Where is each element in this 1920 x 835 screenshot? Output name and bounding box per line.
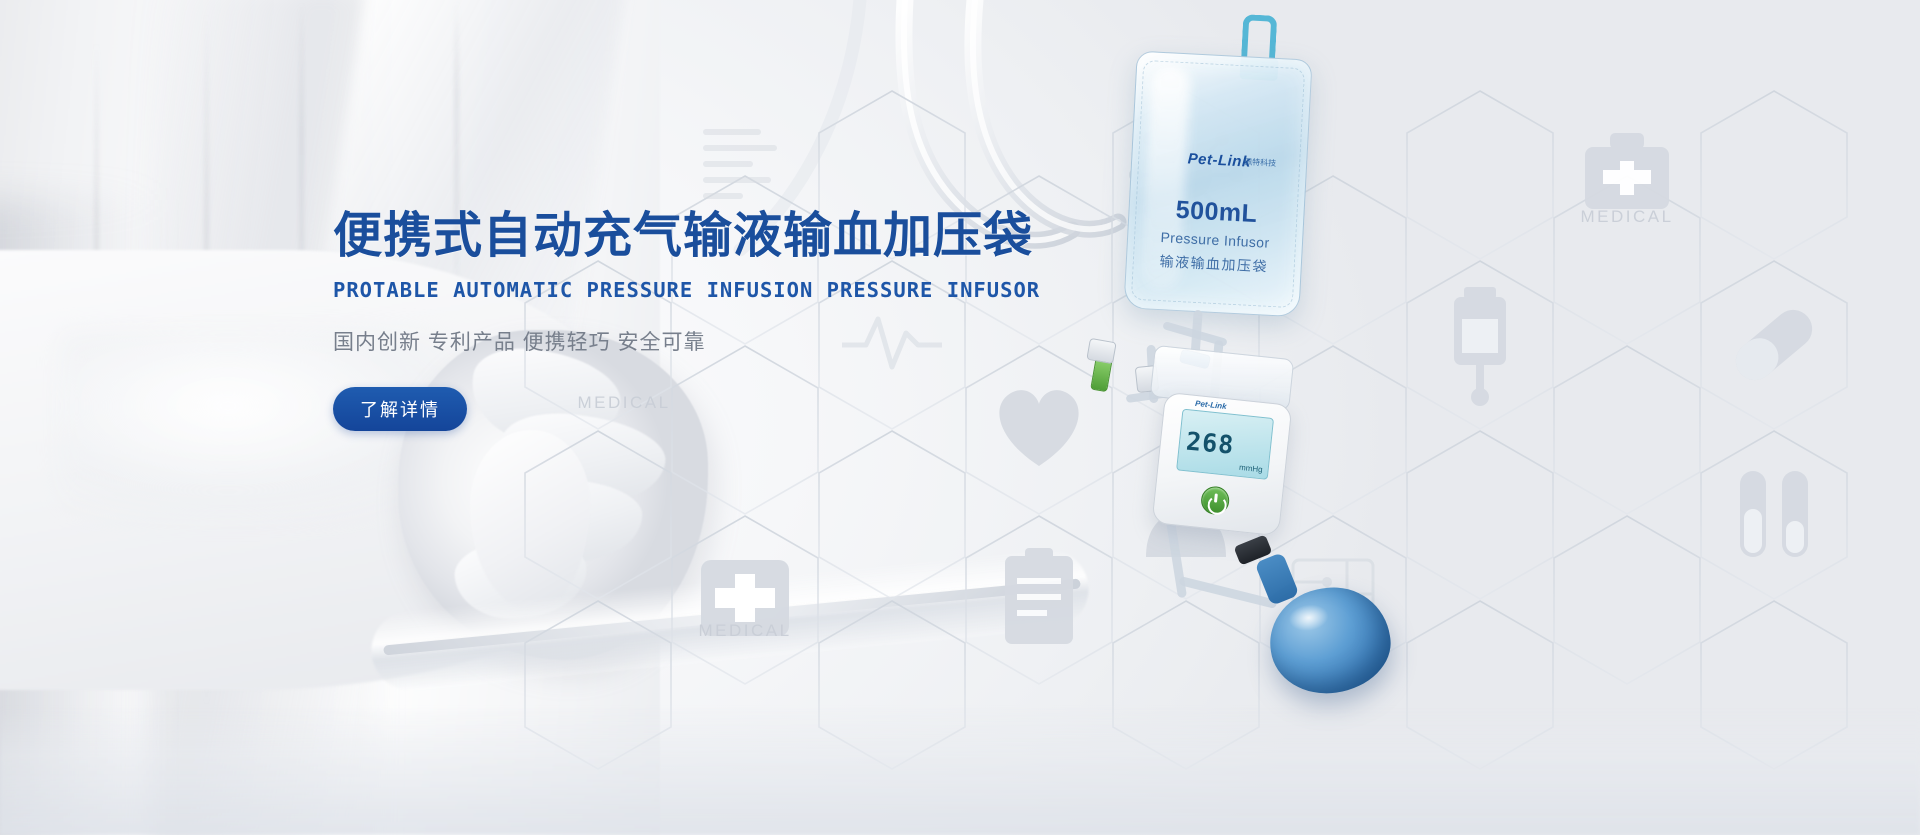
banner-stage: MEDICAL MEDICAL MEDICAL 便携式自动充气输液输血加压袋 P… bbox=[0, 0, 1920, 835]
gauge-reading-value: 268 bbox=[1185, 427, 1236, 460]
digital-pressure-gauge: Pet-Link 268 mmHg bbox=[1151, 392, 1292, 537]
pill-capsule-icon bbox=[1728, 302, 1820, 388]
page-tagline: 国内创新 专利产品 便携轻巧 安全可靠 bbox=[333, 326, 1033, 356]
watermark-label: MEDICAL bbox=[1580, 207, 1673, 226]
page-title: 便携式自动充气输液输血加压袋 bbox=[333, 208, 1033, 265]
valve-cap bbox=[1086, 338, 1116, 364]
pressure-infusor-bag: Pet-Link 佩特科技 500mL Pressure Infusor 输液输… bbox=[1123, 51, 1312, 318]
learn-more-button[interactable]: 了解详情 bbox=[333, 387, 467, 431]
gauge-display-screen: 268 mmHg bbox=[1176, 409, 1274, 480]
power-icon[interactable] bbox=[1200, 485, 1231, 516]
iv-drip-icon bbox=[1454, 287, 1506, 406]
medical-bag-icon bbox=[1585, 133, 1669, 209]
product-brand-cn-label: 佩特科技 bbox=[1244, 156, 1277, 169]
test-tubes-icon bbox=[1740, 471, 1808, 557]
product-pressure-infusor: Pet-Link 佩特科技 500mL Pressure Infusor 输液输… bbox=[1040, 0, 1460, 835]
watermark-label: MEDICAL bbox=[698, 621, 791, 640]
page-subtitle-english: PROTABLE AUTOMATIC PRESSURE INFUSION PRE… bbox=[333, 278, 1033, 302]
hero-text-block: 便携式自动充气输液输血加压袋 PROTABLE AUTOMATIC PRESSU… bbox=[333, 208, 1033, 431]
gauge-brand-label: Pet-Link bbox=[1195, 399, 1227, 411]
gauge-unit-label: mmHg bbox=[1239, 463, 1263, 474]
bulb-highlight bbox=[1287, 602, 1330, 633]
iv-tube bbox=[1166, 520, 1187, 598]
